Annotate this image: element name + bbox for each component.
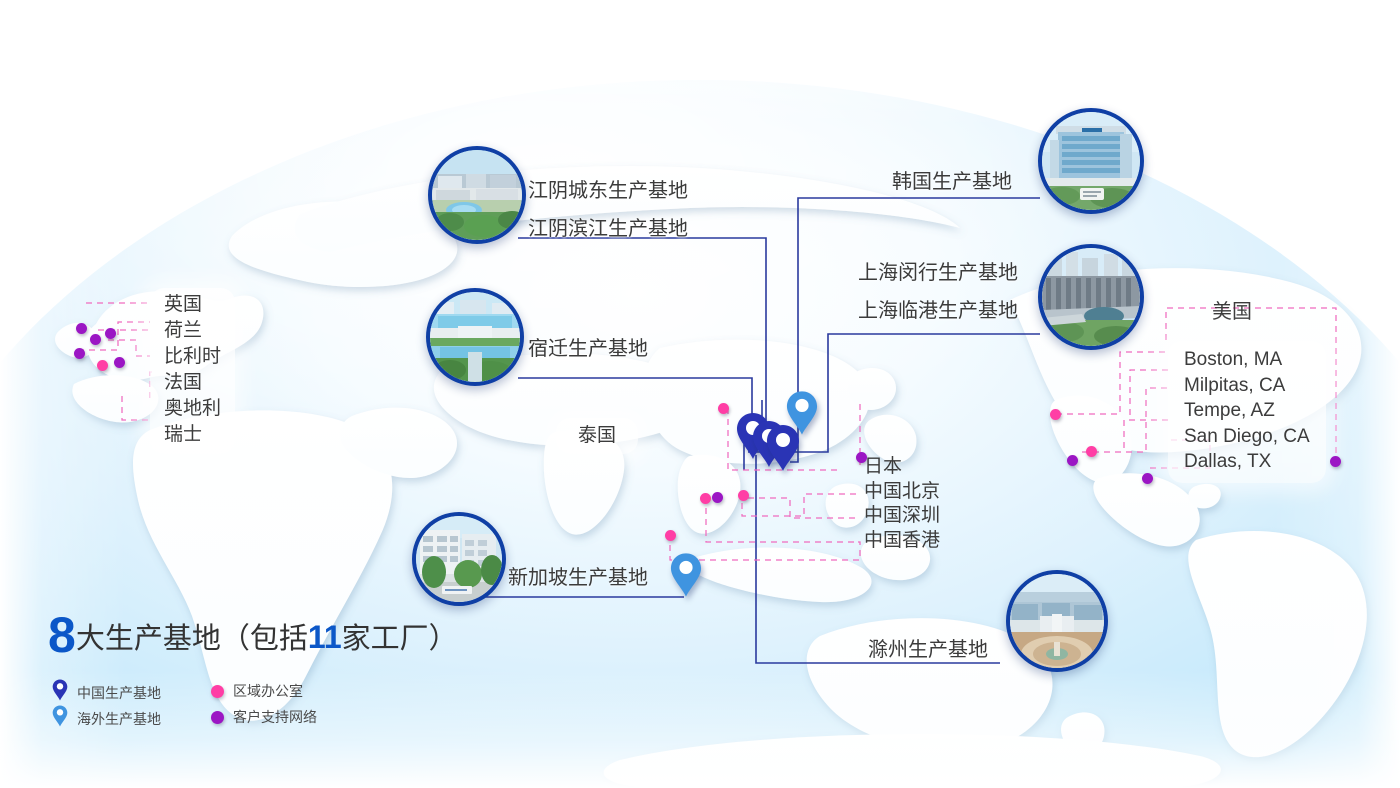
label-chuzhou: 滁州生产基地 (868, 631, 988, 669)
dot-icon-office-eu-4[interactable] (74, 348, 85, 359)
dot-icon-office-asia-6[interactable] (665, 530, 676, 541)
label-singapore: 新加坡生产基地 (508, 559, 648, 597)
europe-item-4: 奥地利 (164, 396, 221, 422)
world-map-infographic: 江阴城东生产基地 江阴滨江生产基地 宿迁生产基地 韩国生产基地 上海闵行生产基地… (0, 0, 1400, 788)
dot-icon-office-us-5[interactable] (1330, 456, 1341, 467)
dot-icon-pink (211, 685, 224, 698)
legend-label-regional-office: 区域办公室 (233, 681, 303, 701)
label-suqian: 宿迁生产基地 (528, 330, 648, 368)
headline-text-b: 家工厂） (342, 623, 458, 655)
legend-label-china-base: 中国生产基地 (77, 683, 161, 703)
legend-label-overseas-base: 海外生产基地 (77, 709, 161, 729)
label-korea: 韩国生产基地 (892, 163, 1012, 201)
photo-singapore-base (412, 512, 506, 606)
legend-label-support-network: 客户支持网络 (233, 707, 317, 727)
europe-item-5: 瑞士 (164, 422, 221, 448)
pin-icon-overseas-korea[interactable] (786, 390, 818, 441)
pin-icon-dark-blue (52, 679, 68, 706)
usa-city-0: Boston, MA (1184, 347, 1310, 373)
dot-icon-office-us-3[interactable] (1067, 455, 1078, 466)
asia-office-list: 日本 中国北京 中国深圳 中国香港 (864, 455, 940, 553)
usa-city-4: Dallas, TX (1184, 449, 1310, 475)
pin-icon-overseas-singapore[interactable] (670, 552, 702, 603)
legend-item-china-base[interactable]: 中国生产基地 (52, 679, 161, 706)
label-jiangyin-2: 江阴滨江生产基地 (528, 210, 688, 248)
dot-icon-office-us-4[interactable] (1142, 473, 1153, 484)
dot-icon-office-asia-5[interactable] (712, 492, 723, 503)
thailand-panel: 泰国 (556, 418, 638, 454)
dot-icon-office-asia-3[interactable] (738, 490, 749, 501)
europe-item-3: 法国 (164, 370, 221, 396)
usa-title: 美国 (1212, 295, 1252, 324)
dot-icon-office-eu-6[interactable] (97, 360, 108, 371)
photo-suqian-base (426, 288, 524, 386)
headline: 8大生产基地（包括11家工厂） (48, 606, 458, 664)
label-jiangyin-1: 江阴城东生产基地 (528, 172, 688, 210)
photo-shanghai-base (1038, 244, 1144, 350)
dot-icon-purple (211, 711, 224, 724)
pin-icon-light-blue (52, 705, 68, 732)
europe-country-panel: 英国 荷兰 比利时 法国 奥地利 瑞士 (150, 288, 235, 454)
headline-count-2: 11 (308, 619, 342, 655)
dot-icon-office-eu-1[interactable] (76, 323, 87, 334)
europe-item-0: 英国 (164, 292, 221, 318)
label-shanghai-2: 上海临港生产基地 (858, 292, 1018, 330)
legend-item-regional-office[interactable]: 区域办公室 (211, 681, 303, 701)
dot-icon-office-asia-1[interactable] (718, 403, 729, 414)
dot-icon-office-us-1[interactable] (1050, 409, 1061, 420)
usa-city-3: San Diego, CA (1184, 424, 1310, 450)
dot-icon-office-eu-2[interactable] (90, 334, 101, 345)
asia-item-3: 中国香港 (864, 529, 940, 554)
photo-korea-base (1038, 108, 1144, 214)
usa-city-1: Milpitas, CA (1184, 373, 1310, 399)
asia-item-2: 中国深圳 (864, 504, 940, 529)
thailand-label: 泰国 (578, 422, 616, 450)
asia-item-0: 日本 (864, 455, 940, 480)
label-shanghai-1: 上海闵行生产基地 (858, 254, 1018, 292)
dot-icon-office-us-2[interactable] (1086, 446, 1097, 457)
dot-icon-office-asia-4[interactable] (700, 493, 711, 504)
europe-item-2: 比利时 (164, 344, 221, 370)
legend-item-overseas-base[interactable]: 海外生产基地 (52, 705, 161, 732)
dot-icon-office-asia-2[interactable] (856, 452, 867, 463)
europe-item-1: 荷兰 (164, 318, 221, 344)
asia-item-1: 中国北京 (864, 480, 940, 505)
usa-city-2: Tempe, AZ (1184, 398, 1310, 424)
photo-jiangyin-base (428, 146, 526, 244)
usa-city-panel: Boston, MA Milpitas, CA Tempe, AZ San Di… (1168, 341, 1326, 483)
dot-icon-office-eu-3[interactable] (105, 328, 116, 339)
legend-item-support-network[interactable]: 客户支持网络 (211, 707, 317, 727)
photo-chuzhou-base (1006, 570, 1108, 672)
headline-count: 8 (48, 607, 76, 663)
headline-text-a: 大生产基地（包括 (76, 623, 308, 655)
dot-icon-office-eu-5[interactable] (114, 357, 125, 368)
